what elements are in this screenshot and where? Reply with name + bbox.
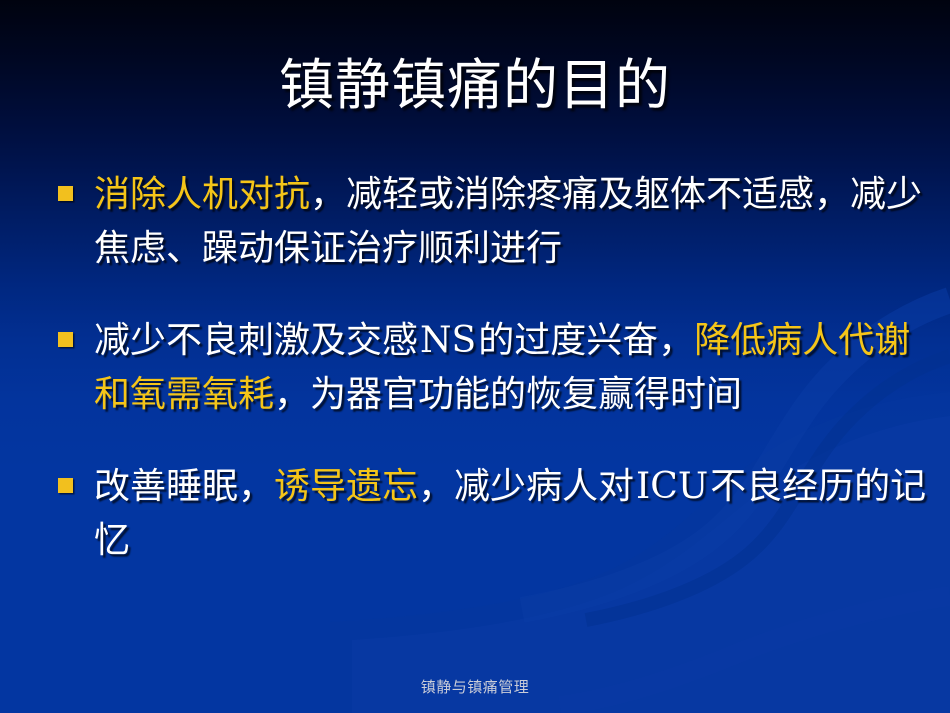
slide-footer: 镇静与镇痛管理 [0,677,950,697]
page-title: 镇静镇痛的目的 [0,52,950,118]
body-phrase: 改善睡眠， [94,466,274,507]
list-item-text: 消除人机对抗，减轻或消除疼痛及躯体不适感，减少焦虑、躁动保证治疗顺利进行 [94,168,932,276]
body-phrase: ，为器官功能的恢复赢得时间 [274,374,742,415]
slide-canvas: 镇静镇痛的目的 消除人机对抗，减轻或消除疼痛及躯体不适感，减少焦虑、躁动保证治疗… [0,0,950,713]
list-item-text: 改善睡眠，诱导遗忘，减少病人对ICU不良经历的记忆 [94,460,932,568]
highlight-phrase: 诱导遗忘 [274,466,418,507]
bullet-list: 消除人机对抗，减轻或消除疼痛及躯体不适感，减少焦虑、躁动保证治疗顺利进行 减少不… [52,168,932,568]
latin-abbreviation: NS [418,320,478,361]
body-phrase: 的过度兴奋， [478,320,694,361]
body-phrase: ，减少病人对 [418,466,634,507]
list-item-text: 减少不良刺激及交感NS的过度兴奋，降低病人代谢和氧需氧耗，为器官功能的恢复赢得时… [94,314,932,422]
list-item: 减少不良刺激及交感NS的过度兴奋，降低病人代谢和氧需氧耗，为器官功能的恢复赢得时… [52,314,932,422]
square-bullet-icon [58,186,73,201]
square-bullet-icon [58,332,73,347]
square-bullet-icon [58,478,73,493]
latin-abbreviation: ICU [634,466,710,507]
highlight-phrase: 消除人机对抗 [94,174,310,215]
list-item: 改善睡眠，诱导遗忘，减少病人对ICU不良经历的记忆 [52,460,932,568]
list-item: 消除人机对抗，减轻或消除疼痛及躯体不适感，减少焦虑、躁动保证治疗顺利进行 [52,168,932,276]
body-phrase: 减少不良刺激及交感 [94,320,418,361]
